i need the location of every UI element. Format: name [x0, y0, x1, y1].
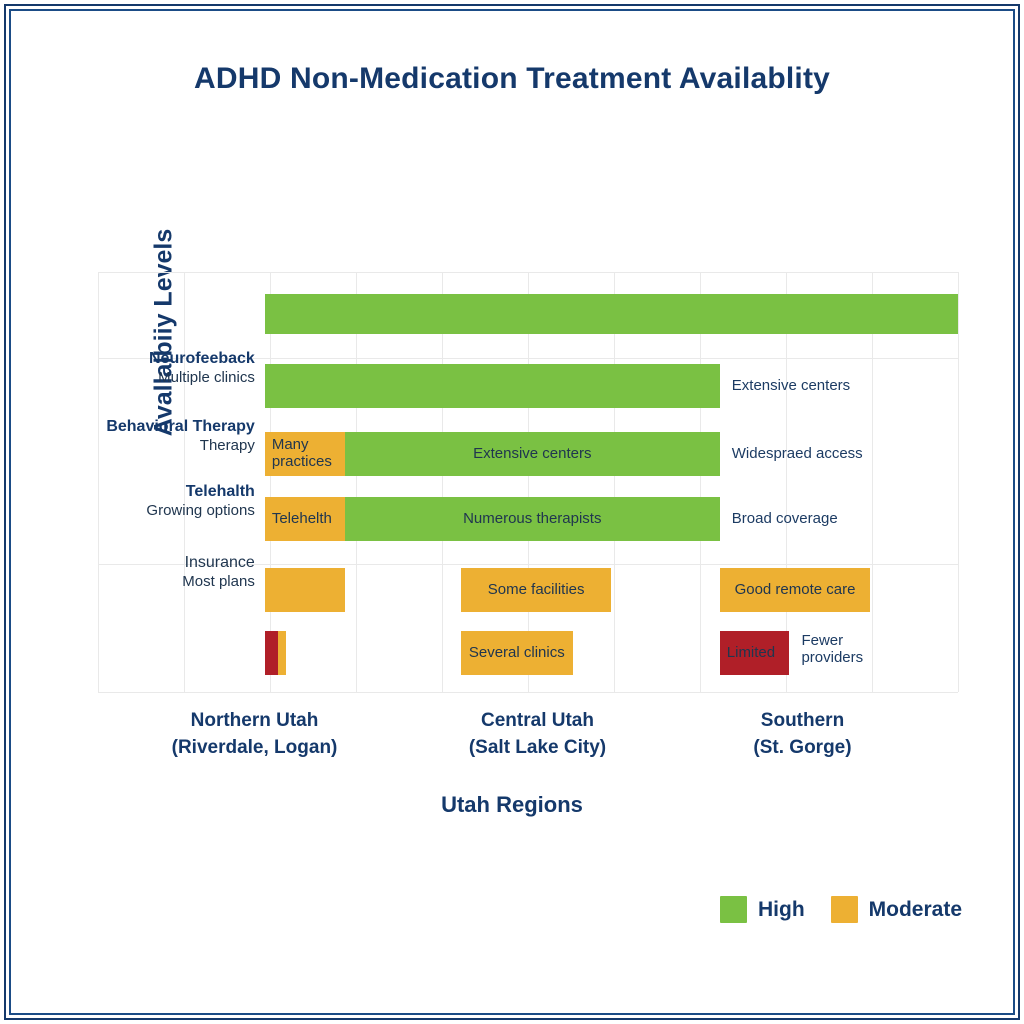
gridline-horizontal	[98, 692, 958, 693]
bar-segment[interactable]: Extensive centers	[345, 432, 720, 476]
bar-outside-label: Widespraed access	[732, 432, 863, 476]
y-category-label: Behavioral TherapyTherapy	[60, 418, 255, 454]
bar-segment[interactable]	[265, 631, 278, 675]
y-category-sublabel: Most plans	[60, 573, 255, 590]
chart-legend: HighModerate	[720, 896, 962, 923]
legend-item[interactable]: Moderate	[831, 896, 962, 923]
bar-segment[interactable]: Good remote care	[720, 568, 871, 612]
gridline-vertical	[184, 272, 185, 692]
bar-row	[98, 294, 958, 334]
bar-outside-label: Fewerproviders	[801, 633, 863, 667]
y-category-sublabel: Growing options	[60, 502, 255, 519]
chart-canvas: ADHD Non-Medication Treatment Availablit…	[0, 0, 1024, 1024]
y-category-sublabel: Therapy	[60, 437, 255, 454]
bar-outside-label: Extensive centers	[732, 364, 850, 408]
gridline-vertical	[700, 272, 701, 692]
gridline-vertical	[356, 272, 357, 692]
bar-segment[interactable]: Some facilities	[461, 568, 612, 612]
legend-label: Moderate	[869, 898, 962, 922]
gridline-vertical	[442, 272, 443, 692]
legend-item[interactable]: High	[720, 896, 805, 923]
bar-segment-label: Telehelth	[265, 511, 332, 528]
bar-segment-label: Several clinics	[461, 645, 573, 662]
x-axis-title: Utah Regions	[0, 792, 1024, 818]
y-category-name: Neurofeeback	[60, 350, 255, 369]
gridline-vertical	[614, 272, 615, 692]
gridline-vertical	[270, 272, 271, 692]
bar-segment[interactable]: Numerous therapists	[345, 497, 720, 541]
bar-segment-label: Manypractices	[265, 437, 332, 471]
x-tick-label: Northern Utah(Riverdale, Logan)	[152, 708, 357, 762]
gridline-vertical	[528, 272, 529, 692]
bar-row: Several clinicsLimitedFewerproviders	[98, 631, 958, 675]
bar-segment-label: Some facilities	[461, 582, 612, 599]
y-category-sublabel: Multiple clinics	[60, 369, 255, 386]
bar-segment[interactable]: Manypractices	[265, 432, 345, 476]
x-tick-label: Central Utah(Salt Lake City)	[435, 708, 640, 762]
bar-segment[interactable]: Limited	[720, 631, 790, 675]
legend-swatch	[720, 896, 747, 923]
y-category-label: NeurofeebackMultiple clinics	[60, 350, 255, 386]
plot-area: Extensive centersManypracticesExtensive …	[98, 272, 958, 692]
page-title: ADHD Non-Medication Treatment Availablit…	[0, 62, 1024, 96]
bar-segment[interactable]	[278, 631, 287, 675]
legend-swatch	[831, 896, 858, 923]
gridline-vertical	[872, 272, 873, 692]
bar-segment[interactable]: Several clinics	[461, 631, 573, 675]
bar-segment[interactable]	[265, 294, 958, 334]
y-category-name: Telehalth	[60, 483, 255, 502]
gridline-vertical	[98, 272, 99, 692]
y-category-name: Insurance	[60, 554, 255, 573]
bar-segment[interactable]: Telehelth	[265, 497, 345, 541]
bar-segment-label: Good remote care	[720, 582, 871, 599]
y-category-name: Behavioral Therapy	[60, 418, 255, 437]
bar-segment-label: Extensive centers	[345, 446, 720, 463]
bar-segment-label: Limited	[720, 645, 775, 662]
bar-outside-label: Broad coverage	[732, 497, 838, 541]
bar-segment[interactable]	[265, 364, 720, 408]
gridline-vertical	[786, 272, 787, 692]
bar-segment[interactable]	[265, 568, 345, 612]
gridline-vertical	[958, 272, 959, 692]
x-tick-label: Southern(St. Gorge)	[700, 708, 905, 762]
bar-segment-label: Numerous therapists	[345, 511, 720, 528]
y-category-label: TelehalthGrowing options	[60, 483, 255, 519]
legend-label: High	[758, 898, 805, 922]
y-category-label: InsuranceMost plans	[60, 554, 255, 590]
